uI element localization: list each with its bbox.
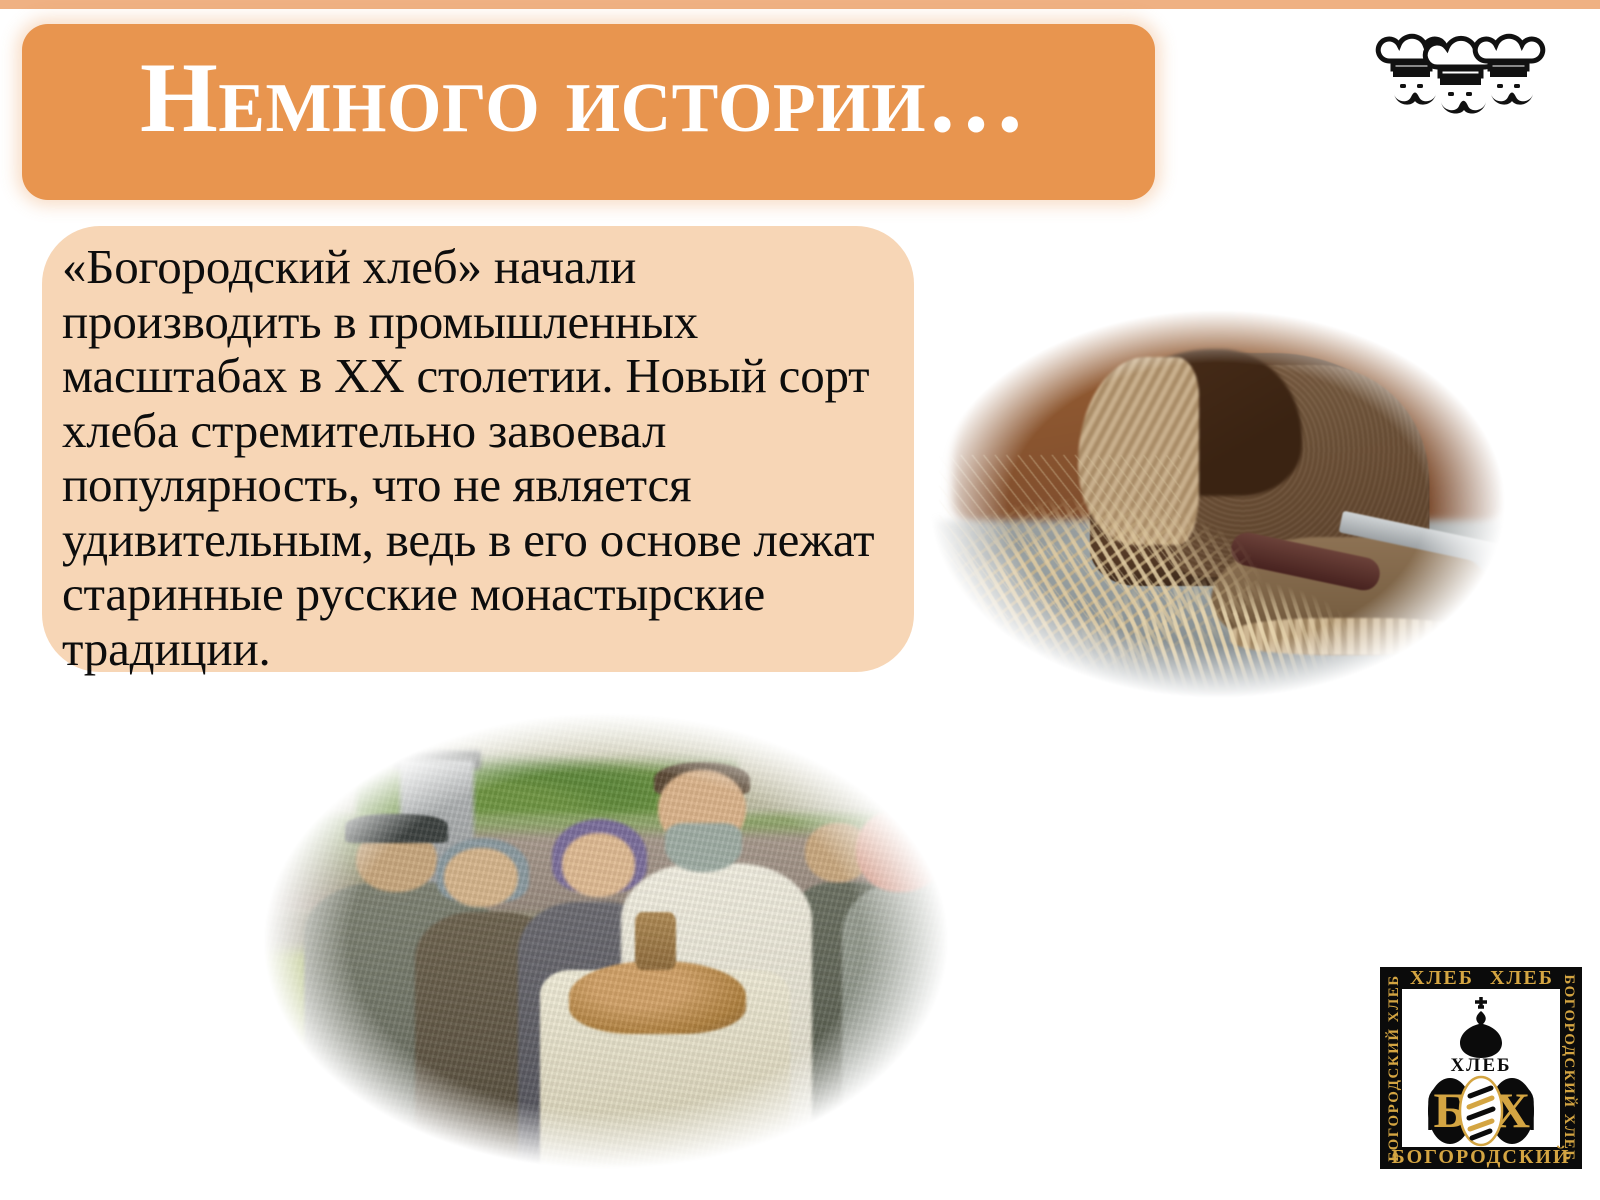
body-paragraph: «Богородский хлеб» начали производить в … [62, 240, 900, 676]
painting-figure-right-front-head [856, 809, 944, 892]
bread-photo-scene [915, 300, 1520, 708]
peasants-bread-salt-painting [238, 696, 974, 1186]
logo-dome-word: ХЛЕБ [1450, 1055, 1511, 1076]
bread-loaf-photo [915, 300, 1520, 708]
page-title: Немного истории… [140, 47, 1027, 149]
logo-left-border-text: БОГОРОДСКИЙ ХЛЕБ [1385, 974, 1402, 1161]
logo-top-right-word: ХЛЕБ [1490, 967, 1554, 989]
wheat-strands [939, 455, 1181, 618]
painting-left-man-cap [345, 814, 448, 843]
brand-logo-icon: ХЛЕБ ХЛЕБ БОГОРОДСКИЙ ХЛЕБ БОГОРОДСКИЙ Х… [1372, 955, 1590, 1177]
painting-salt-cellar [635, 912, 675, 971]
body-text-card: «Богородский хлеб» начали производить в … [42, 226, 914, 672]
painting-figure-second-woman-head [444, 848, 518, 907]
painting-scene [238, 696, 974, 1186]
painting-round-loaf [569, 961, 746, 1035]
logo-top-left-word: ХЛЕБ [1410, 967, 1474, 989]
chef-hats-icon [1374, 24, 1546, 120]
logo-right-border-text: БОГОРОДСКИЙ ХЛЕБ [1561, 974, 1578, 1161]
logo-bottom-border-text: БОГОРОДСКИЙ [1392, 1145, 1571, 1168]
painting-figure-scarf-woman-head [562, 833, 636, 897]
painting-figure-right-front [842, 882, 974, 1176]
presentation-slide: Немного истории… [0, 0, 1600, 1200]
top-accent-strip [0, 0, 1600, 9]
